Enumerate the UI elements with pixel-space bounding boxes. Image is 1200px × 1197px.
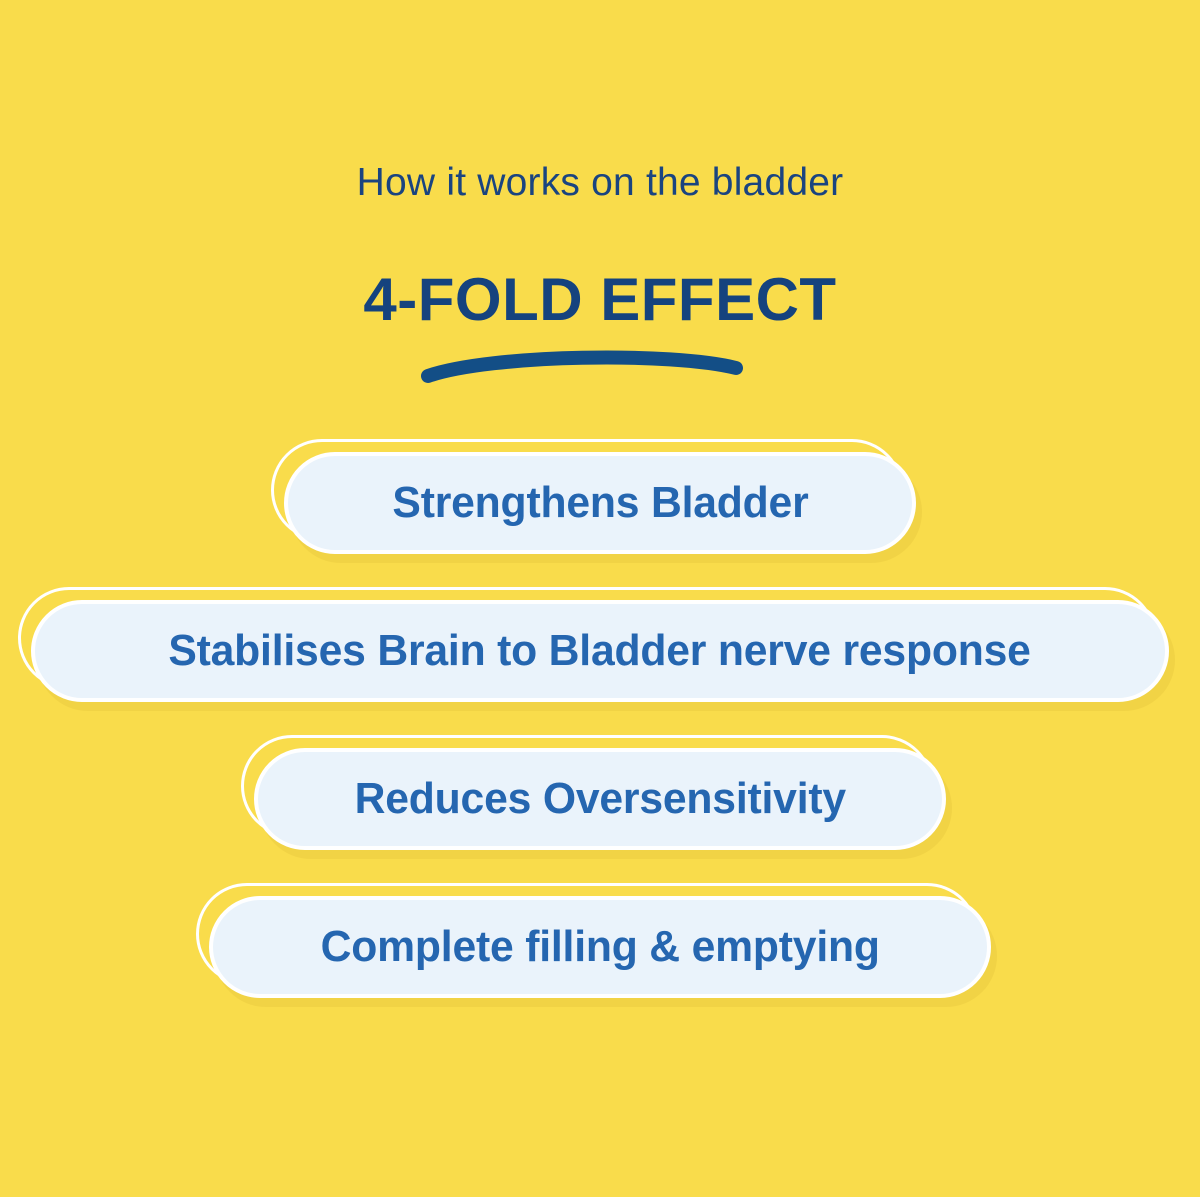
benefit-label: Reduces Oversensitivity (354, 777, 845, 821)
benefit-pill[interactable]: Reduces Oversensitivity (254, 748, 946, 850)
benefit-pill[interactable]: Strengthens Bladder (284, 452, 916, 554)
benefit-label: Strengthens Bladder (392, 481, 808, 525)
page-title: 4-FOLD EFFECT (363, 270, 836, 330)
swoosh-underline-icon (422, 346, 742, 386)
poster-canvas: How it works on the bladder 4-FOLD EFFEC… (0, 0, 1200, 1197)
header-block: How it works on the bladder 4-FOLD EFFEC… (0, 0, 1200, 386)
benefit-label: Stabilises Brain to Bladder nerve respon… (169, 629, 1031, 673)
benefit-label: Complete filling & emptying (320, 925, 879, 969)
benefit-pill[interactable]: Stabilises Brain to Bladder nerve respon… (31, 600, 1169, 702)
benefit-pill-list: Strengthens Bladder Stabilises Brain to … (0, 452, 1200, 998)
eyebrow-text: How it works on the bladder (357, 163, 844, 202)
benefit-pill[interactable]: Complete filling & emptying (209, 896, 991, 998)
